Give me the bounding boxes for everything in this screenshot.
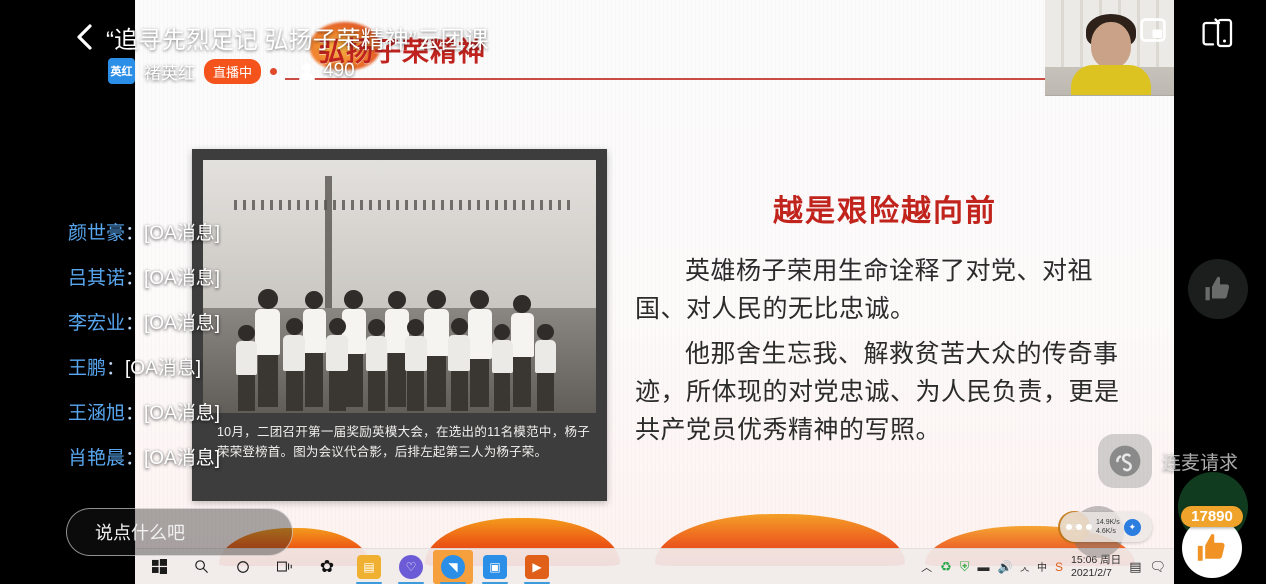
thumbs-up-icon [1195, 531, 1229, 565]
picture-in-picture-icon[interactable] [1140, 18, 1166, 47]
list-item: 王鹏：[OA消息] [68, 359, 398, 378]
chevron-left-icon [75, 23, 95, 51]
live-stream-screen: 弘扬子荣精神 [0, 0, 1266, 584]
live-indicator-dot [270, 68, 277, 75]
link-chain-icon [1098, 434, 1152, 488]
page-title: “追寻先烈足记 弘扬子荣精神”云团课 [106, 20, 489, 55]
wifi-icon[interactable]: ◞◟ [1020, 560, 1029, 573]
list-item: 吕其诺：[OA消息] [68, 269, 398, 288]
list-item: 李宏业：[OA消息] [68, 314, 398, 333]
floating-thumbs-up-icon[interactable] [1188, 259, 1248, 319]
slide-paragraph-1: 英雄杨子荣用生命诠释了对党、对祖国、对人民的无比忠诚。 [635, 252, 1135, 329]
chat-sender-name: 王涵旭 [68, 403, 125, 424]
slide-title: 越是艰险越向前 [635, 186, 1135, 230]
chat-sender-name: 颜世豪 [68, 223, 125, 244]
slide-text-block: 越是艰险越向前 英雄杨子荣用生命诠释了对党、对祖国、对人民的无比忠诚。 他那舍生… [635, 35, 1135, 449]
list-item: 颜世豪：[OA消息] [68, 224, 398, 243]
list-item: 肖艳晨：[OA消息] [68, 449, 398, 468]
like-control-group[interactable]: 17890 [1178, 506, 1246, 578]
host-info-row: 英红 褚英红 直播中 490 [108, 58, 355, 84]
chat-message-text: [OA消息] [144, 223, 220, 244]
viewer-count-group: 490 [298, 60, 355, 82]
chat-sender-name: 吕其诺 [68, 268, 125, 289]
notes-icon[interactable]: ▤ [1129, 559, 1141, 575]
app-calendar[interactable]: ▣ [475, 550, 515, 584]
chat-separator: ： [125, 268, 144, 289]
back-button[interactable] [68, 20, 102, 54]
chat-separator: ： [125, 313, 144, 334]
shield-icon[interactable]: ⛨ [960, 559, 970, 575]
windows-taskbar: ✿ ▤ ♡ ◥ ▣ ▶ ︿ ♻ [135, 548, 1174, 584]
chat-separator: ： [125, 448, 144, 469]
avatar[interactable]: 英红 [108, 58, 135, 84]
volume-icon[interactable]: 🔊 [997, 560, 1012, 574]
chat-separator: ： [106, 358, 125, 379]
app-file-explorer[interactable]: ▤ [349, 550, 389, 584]
chat-separator: ： [125, 223, 144, 244]
like-count-badge: 17890 [1181, 506, 1243, 527]
chat-message-text: [OA消息] [144, 268, 220, 289]
download-speed: 14.9K/s [1096, 518, 1120, 527]
battery-icon[interactable]: ▬ [977, 560, 989, 574]
mic-request-button[interactable]: 连麦请求 [1098, 434, 1242, 488]
mic-request-label: 连麦请求 [1162, 448, 1238, 475]
list-item: 王涵旭：[OA消息] [68, 404, 398, 423]
viewer-count: 490 [323, 60, 355, 82]
chat-sender-name: 李宏业 [68, 313, 125, 334]
net-badge-icon[interactable]: ✦ [1124, 519, 1141, 536]
upload-speed: 4.6K/s [1096, 527, 1120, 536]
slide-paragraph-2: 他那舍生忘我、解救贫苦大众的传奇事迹，所体现的对党忠诚、为人民负责，更是共产党员… [635, 335, 1135, 450]
chat-message-text: [OA消息] [144, 313, 220, 334]
presenter-camera-thumbnail[interactable] [1045, 0, 1174, 96]
chat-input[interactable]: 说点什么吧 [66, 508, 293, 556]
host-name: 褚英红 [144, 59, 195, 84]
chat-message-text: [OA消息] [144, 403, 220, 424]
app-pinwheel[interactable]: ✿ [307, 550, 347, 584]
chat-message-list: 颜世豪：[OA消息] 吕其诺：[OA消息] 李宏业：[OA消息] 王鹏：[OA消… [68, 224, 398, 494]
network-speed-widget[interactable]: 14.9K/s 4.6K/s ✦ [1060, 512, 1152, 542]
chat-message-text: [OA消息] [125, 358, 201, 379]
chevron-up-icon[interactable]: ︿ [921, 559, 932, 575]
ime-icon[interactable]: 中 [1037, 559, 1047, 574]
person-icon [298, 62, 316, 81]
clock-date: 2021/2/7 [1071, 567, 1121, 579]
chat-message-text: [OA消息] [144, 448, 220, 469]
chat-sender-name: 肖艳晨 [68, 448, 125, 469]
like-button[interactable] [1182, 518, 1242, 578]
notification-icon[interactable]: 🗨 [1149, 559, 1166, 575]
app-browser[interactable]: ♡ [391, 550, 431, 584]
sogou-icon[interactable]: S [1055, 560, 1063, 574]
sync-icon[interactable]: ♻ [940, 559, 952, 575]
app-media[interactable]: ▶ [517, 550, 557, 584]
chat-separator: ： [125, 403, 144, 424]
chat-sender-name: 王鹏 [68, 358, 106, 379]
app-meeting[interactable]: ◥ [433, 550, 473, 584]
cast-to-device-icon[interactable] [1198, 14, 1236, 52]
status-badge: 直播中 [204, 59, 261, 84]
